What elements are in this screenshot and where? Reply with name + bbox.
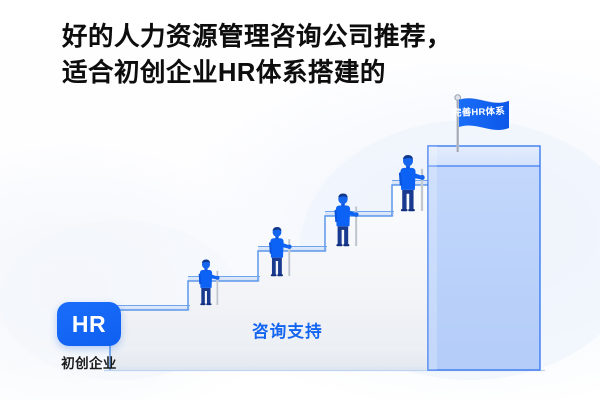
summit-platform — [428, 146, 540, 370]
hr-badge-label: 初创企业 — [57, 352, 121, 372]
figure-step-2 — [269, 227, 292, 276]
illustration-canvas: 好的人力资源管理咨询公司推荐， 适合初创企业HR体系搭建的 — [0, 0, 600, 400]
stairs-caption: 咨询支持 — [252, 318, 323, 342]
hr-badge-group: HR 初创企业 — [57, 302, 121, 372]
hr-badge-icon: HR — [57, 302, 121, 346]
